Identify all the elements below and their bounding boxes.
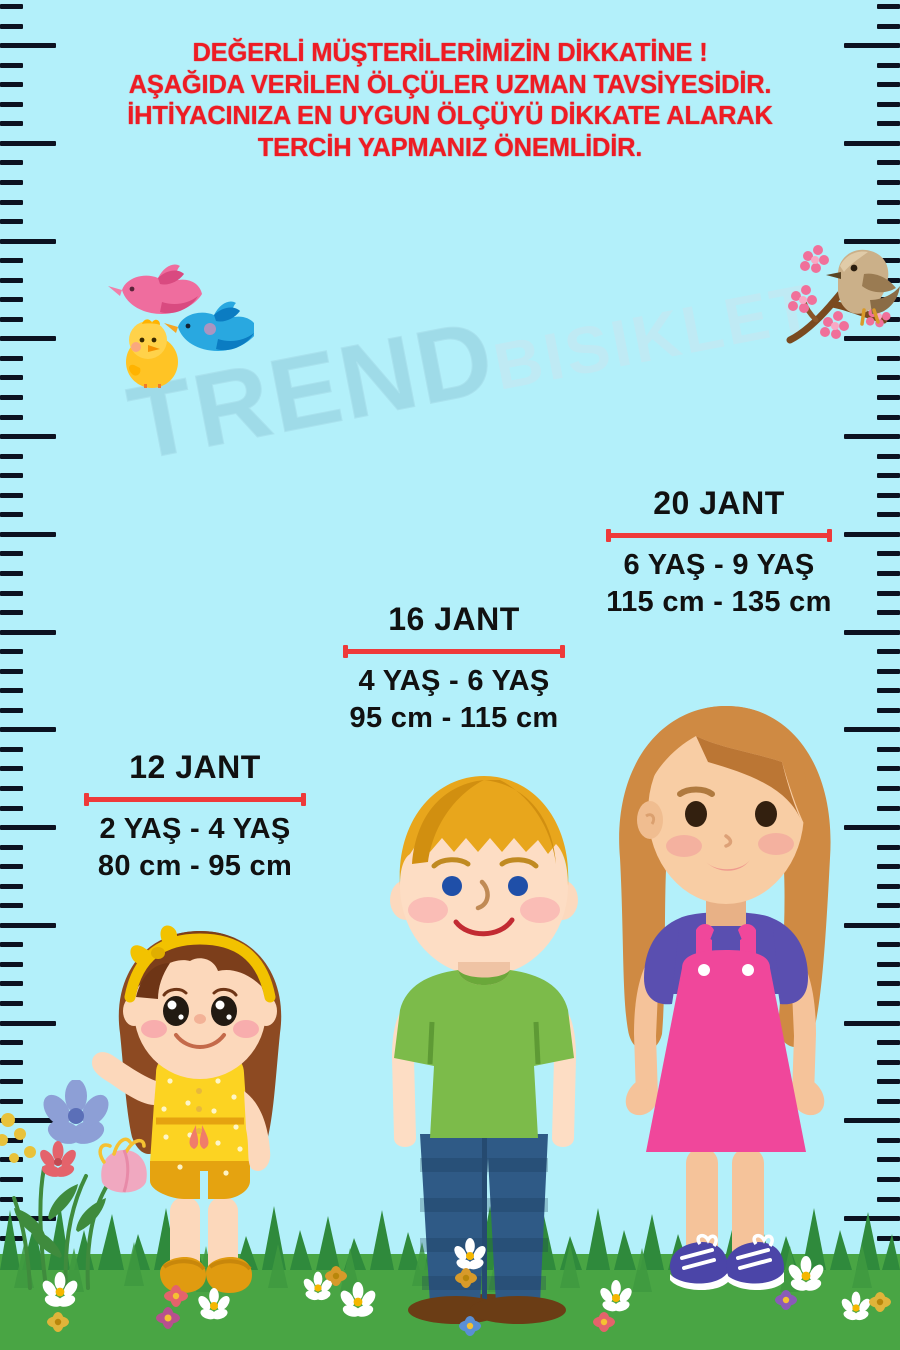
- headline-notice: DEĞERLİ MÜŞTERİLERİMİZİN DİKKATİNE ! AŞA…: [0, 38, 900, 164]
- ruler-tick-minor: [877, 766, 900, 771]
- ruler-tick-minor: [0, 688, 23, 693]
- ruler-tick-minor: [0, 864, 23, 869]
- ruler-tick-minor: [0, 297, 23, 302]
- measure-bar-16: [343, 645, 565, 657]
- ruler-tick-minor: [877, 708, 900, 713]
- measure-bar-line: [606, 533, 832, 538]
- ruler-tick-minor: [877, 571, 900, 576]
- ruler-tick-major: [844, 825, 900, 830]
- ruler-tick-minor: [0, 766, 23, 771]
- ruler-tick-minor: [0, 884, 23, 889]
- ruler-tick-minor: [877, 649, 900, 654]
- ruler-tick-minor: [0, 180, 23, 185]
- size-group-12-jant: 12 JANT 2 YAŞ - 4 YAŞ 80 cm - 95 cm: [60, 748, 330, 885]
- size-height-16: 95 cm - 115 cm: [318, 700, 590, 737]
- ruler-tick-minor: [877, 1099, 900, 1104]
- ruler-tick-major: [844, 923, 900, 928]
- ruler-tick-major: [0, 532, 56, 537]
- headline-line-2: AŞAĞIDA VERİLEN ÖLÇÜLER UZMAN TAVSİYESİD…: [0, 70, 900, 102]
- ruler-tick-minor: [877, 942, 900, 947]
- measure-bar-cap-right: [301, 793, 306, 806]
- size-title-16: 16 JANT: [318, 600, 590, 638]
- sparrow-on-blossom-branch: [786, 222, 900, 348]
- ruler-tick-major: [0, 825, 56, 830]
- size-height-12: 80 cm - 95 cm: [60, 848, 330, 885]
- ruler-tick-minor: [877, 688, 900, 693]
- ruler-tick-minor: [877, 415, 900, 420]
- ruler-tick-minor: [877, 864, 900, 869]
- size-title-12: 12 JANT: [60, 748, 330, 786]
- size-title-20: 20 JANT: [582, 484, 856, 522]
- ruler-tick-minor: [877, 24, 900, 29]
- ruler-tick-minor: [0, 415, 23, 420]
- ruler-tick-minor: [0, 24, 23, 29]
- ruler-tick-minor: [0, 4, 23, 9]
- ruler-tick-minor: [877, 1138, 900, 1143]
- ruler-tick-major: [844, 1021, 900, 1026]
- ruler-tick-minor: [0, 610, 23, 615]
- ruler-tick-minor: [0, 200, 23, 205]
- ruler-tick-minor: [0, 649, 23, 654]
- headline-line-1: DEĞERLİ MÜŞTERİLERİMİZİN DİKKATİNE !: [0, 38, 900, 70]
- ruler-tick-minor: [877, 981, 900, 986]
- ruler-tick-minor: [0, 806, 23, 811]
- ruler-tick-major: [844, 630, 900, 635]
- size-age-16: 4 YAŞ - 6 YAŞ: [318, 663, 590, 700]
- measure-bar-cap-left: [84, 793, 89, 806]
- size-group-20-jant: 20 JANT 6 YAŞ - 9 YAŞ 115 cm - 135 cm: [582, 484, 856, 621]
- yellow-chick: [126, 319, 178, 388]
- ruler-tick-major: [0, 434, 56, 439]
- ruler-tick-minor: [0, 903, 23, 908]
- ruler-tick-minor: [0, 981, 23, 986]
- ruler-tick-major: [0, 727, 56, 732]
- ruler-tick-minor: [877, 180, 900, 185]
- measure-bar-line: [343, 649, 565, 654]
- poster-canvas: TRENDBISIKLET DEĞERLİ MÜŞTERİLERİMİZİN D…: [0, 0, 900, 1350]
- ruler-tick-minor: [0, 551, 23, 556]
- ruler-tick-minor: [0, 962, 23, 967]
- ruler-tick-minor: [877, 1079, 900, 1084]
- ruler-tick-minor: [0, 708, 23, 713]
- small-wildflower: [47, 1266, 891, 1336]
- ruler-tick-minor: [0, 278, 23, 283]
- ruler-tick-minor: [877, 473, 900, 478]
- ruler-tick-minor: [0, 1040, 23, 1045]
- ruler-tick-minor: [0, 571, 23, 576]
- size-height-20: 115 cm - 135 cm: [582, 584, 856, 621]
- ruler-tick-minor: [877, 669, 900, 674]
- measure-bar-12: [84, 793, 306, 805]
- ruler-tick-minor: [877, 1001, 900, 1006]
- ruler-tick-minor: [0, 375, 23, 380]
- ruler-tick-minor: [0, 1001, 23, 1006]
- blue-flower: [38, 1080, 114, 1148]
- measure-bar-20: [606, 529, 832, 541]
- ruler-tick-major: [0, 239, 56, 244]
- pink-bird: [108, 265, 202, 315]
- ruler-tick-minor: [877, 845, 900, 850]
- ruler-tick-minor: [877, 903, 900, 908]
- ruler-tick-minor: [877, 395, 900, 400]
- ruler-tick-major: [844, 434, 900, 439]
- measure-bar-cap-left: [343, 645, 348, 658]
- ruler-tick-minor: [0, 473, 23, 478]
- flying-birds-group: [104, 248, 254, 388]
- ruler-tick-minor: [877, 4, 900, 9]
- ruler-tick-minor: [0, 512, 23, 517]
- ruler-tick-minor: [0, 356, 23, 361]
- ground-flowers: [0, 1180, 900, 1350]
- ruler-tick-major: [844, 1118, 900, 1123]
- measure-bar-line: [84, 797, 306, 802]
- ruler-tick-minor: [0, 219, 23, 224]
- ruler-tick-minor: [0, 493, 23, 498]
- ruler-tick-major: [844, 727, 900, 732]
- ruler-tick-major: [0, 336, 56, 341]
- ruler-tick-major: [0, 923, 56, 928]
- size-group-16-jant: 16 JANT 4 YAŞ - 6 YAŞ 95 cm - 115 cm: [318, 600, 590, 737]
- measure-bar-cap-left: [606, 529, 611, 542]
- ruler-tick-minor: [877, 551, 900, 556]
- ruler-tick-minor: [877, 1040, 900, 1045]
- blossom: [788, 285, 817, 313]
- ruler-tick-minor: [877, 375, 900, 380]
- ruler-tick-minor: [877, 356, 900, 361]
- ruler-tick-major: [0, 1021, 56, 1026]
- ruler-tick-minor: [877, 786, 900, 791]
- ruler-tick-minor: [0, 1060, 23, 1065]
- ruler-tick-minor: [0, 669, 23, 674]
- ruler-tick-minor: [877, 806, 900, 811]
- ruler-tick-minor: [877, 454, 900, 459]
- ruler-tick-minor: [877, 610, 900, 615]
- ruler-tick-minor: [0, 845, 23, 850]
- ruler-tick-minor: [0, 454, 23, 459]
- ruler-tick-minor: [877, 884, 900, 889]
- ruler-tick-minor: [0, 942, 23, 947]
- ruler-tick-minor: [877, 747, 900, 752]
- measure-bar-cap-right: [827, 529, 832, 542]
- ruler-tick-major: [0, 630, 56, 635]
- ruler-tick-minor: [0, 747, 23, 752]
- ruler-tick-minor: [877, 1060, 900, 1065]
- watermark-secondary: BISIKLET: [488, 269, 821, 404]
- size-age-20: 6 YAŞ - 9 YAŞ: [582, 547, 856, 584]
- yellow-sprig: [0, 1113, 36, 1163]
- ruler-tick-minor: [0, 258, 23, 263]
- headline-line-3: İHTİYACINIZA EN UYGUN ÖLÇÜYÜ DİKKATE ALA…: [0, 101, 900, 133]
- ruler-tick-minor: [0, 786, 23, 791]
- ruler-tick-minor: [877, 1157, 900, 1162]
- ruler-tick-minor: [877, 200, 900, 205]
- ruler-tick-minor: [0, 395, 23, 400]
- size-age-12: 2 YAŞ - 4 YAŞ: [60, 811, 330, 848]
- measure-bar-cap-right: [560, 645, 565, 658]
- blossom: [800, 245, 829, 273]
- ruler-tick-minor: [877, 493, 900, 498]
- ruler-tick-minor: [0, 317, 23, 322]
- ruler-tick-minor: [877, 962, 900, 967]
- headline-line-4: TERCİH YAPMANIZ ÖNEMLİDİR.: [0, 133, 900, 165]
- ruler-tick-minor: [877, 591, 900, 596]
- ruler-tick-minor: [0, 591, 23, 596]
- ruler-tick-minor: [877, 512, 900, 517]
